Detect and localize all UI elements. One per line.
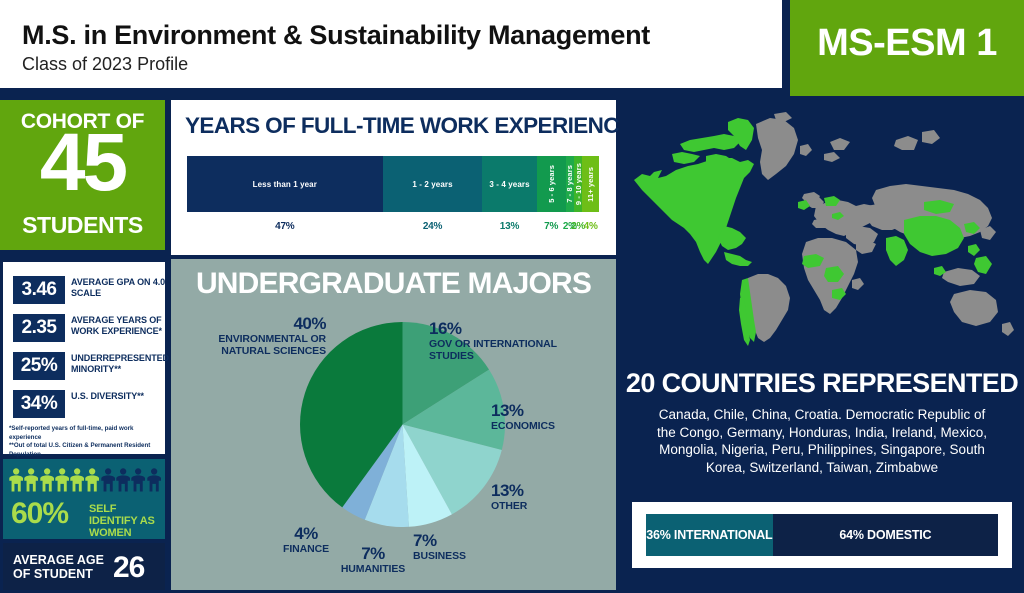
person-icon-filled <box>9 465 23 495</box>
bar-percent-label: 24% <box>383 218 483 234</box>
undergraduate-majors-panel: UNDERGRADUATE MAJORS 16%GOV OR INTERNATI… <box>171 259 616 590</box>
work-experience-percent-labels: 47%24%13%7%2%2%4% <box>187 218 599 234</box>
stat-value: 25% <box>13 352 65 380</box>
bar-segment-label: Less than 1 year <box>253 180 317 189</box>
map-region-svalbard-a <box>830 138 850 150</box>
stat-label: UNDERREPRESENTED MINORITY** <box>71 353 176 374</box>
map-region-canada-arctic <box>680 134 740 152</box>
gender-panel: 60% SELF IDENTIFY AS WOMEN <box>3 459 165 539</box>
bar-segment: 11+ years <box>582 156 599 212</box>
map-region-north-america <box>634 158 754 264</box>
bar-percent-label: 47% <box>187 218 383 234</box>
person-icon-empty <box>131 465 145 495</box>
gender-label: SELF IDENTIFY AS WOMEN <box>89 503 165 539</box>
stat-value: 34% <box>13 390 65 418</box>
cohort-panel: COHORT OF 45 STUDENTS <box>0 100 165 250</box>
bar-segment: 7 - 8 years <box>566 156 574 212</box>
pie-label-percent: 40% <box>181 314 326 334</box>
map-region-australia <box>950 290 998 326</box>
bar-percent-label: 2% <box>574 218 582 234</box>
footnote-2: **Out of total U.S. Citizen & Permanent … <box>9 442 167 459</box>
person-icon-filled <box>70 465 84 495</box>
international-split-panel: 36% INTERNATIONAL64% DOMESTIC <box>632 502 1012 568</box>
undergraduate-majors-title: UNDERGRADUATE MAJORS <box>171 267 616 301</box>
gender-percent: 60% <box>11 497 68 531</box>
work-experience-title: YEARS OF FULL-TIME WORK EXPERIENCE <box>185 113 633 139</box>
footnote-1: *Self-reported years of full-time, paid … <box>9 425 167 442</box>
person-icon-filled <box>40 465 54 495</box>
map-region-svalbard-b <box>824 152 840 162</box>
right-column: 20 COUNTRIES REPRESENTED Canada, Chile, … <box>620 96 1024 593</box>
person-icon-empty <box>116 465 130 495</box>
bar-segment-label: 9 - 10 years <box>574 163 582 205</box>
person-icon-empty <box>147 465 161 495</box>
bar-percent-label: 13% <box>482 218 536 234</box>
stat-label: U.S. DIVERSITY** <box>71 391 176 402</box>
pie-label-name: BUSINESS <box>413 551 503 563</box>
bar-segment: 3 - 4 years <box>482 156 536 212</box>
map-region-new-zealand <box>1002 322 1014 336</box>
bar-segment-label: 5 - 6 years <box>547 165 556 203</box>
countries-list: Canada, Chile, China, Croatia. Democrati… <box>648 406 996 476</box>
pie-label: 16%GOV OR INTERNATIONAL STUDIES <box>429 319 579 362</box>
bar-segment-label: 7 - 8 years <box>566 165 574 203</box>
stats-footnotes: *Self-reported years of full-time, paid … <box>9 425 167 459</box>
countries-title: 20 COUNTRIES REPRESENTED <box>620 368 1024 399</box>
page-title: M.S. in Environment & Sustainability Man… <box>22 20 650 51</box>
program-badge: MS-ESM 1 <box>790 0 1024 96</box>
work-experience-stacked-bar: Less than 1 year1 - 2 years3 - 4 years5 … <box>187 156 599 212</box>
map-region-arctic-ru-a <box>894 136 918 150</box>
bar-segment: 9 - 10 years <box>574 156 582 212</box>
map-region-indonesia <box>942 268 980 286</box>
pie-label: 4%FINANCE <box>266 524 346 556</box>
map-region-arctic-islands <box>672 152 700 164</box>
international-split-segment: 64% DOMESTIC <box>773 514 998 556</box>
header-title-block: M.S. in Environment & Sustainability Man… <box>0 0 782 88</box>
map-region-india <box>886 236 908 266</box>
pie-label-name: HUMANITIES <box>323 564 423 576</box>
pie-label: 13%OTHER <box>491 481 601 513</box>
average-age-label: AVERAGE AGE OF STUDENT <box>13 554 108 581</box>
bar-segment-label: 3 - 4 years <box>489 180 529 189</box>
bar-percent-label: 7% <box>537 218 566 234</box>
world-map <box>628 102 1020 358</box>
person-icon-filled <box>85 465 99 495</box>
bar-percent-label: 4% <box>582 218 599 234</box>
stat-label: AVERAGE GPA ON 4.0 SCALE <box>71 277 176 298</box>
pie-label-percent: 13% <box>491 481 601 501</box>
pie-label-name: ENVIRONMENTAL OR NATURAL SCIENCES <box>181 334 326 357</box>
person-icon-filled <box>24 465 38 495</box>
map-region-madagascar <box>852 278 864 290</box>
pie-label-percent: 16% <box>429 319 579 339</box>
work-experience-panel: YEARS OF FULL-TIME WORK EXPERIENCE Less … <box>171 100 616 255</box>
bar-segment: 5 - 6 years <box>537 156 566 212</box>
infographic-page: M.S. in Environment & Sustainability Man… <box>0 0 1024 593</box>
map-region-mexico <box>718 226 746 250</box>
program-badge-label: MS-ESM 1 <box>790 22 1024 65</box>
pie-label-name: ECONOMICS <box>491 421 611 433</box>
bar-segment: Less than 1 year <box>187 156 383 212</box>
map-region-philippines <box>974 256 992 274</box>
cohort-number: 45 <box>0 122 165 204</box>
stat-label: AVERAGE YEARS OF WORK EXPERIENCE* <box>71 315 176 336</box>
map-region-taiwan <box>968 244 980 256</box>
pie-label-percent: 4% <box>266 524 346 544</box>
person-icon-empty <box>101 465 115 495</box>
pie-label-name: FINANCE <box>266 544 346 556</box>
page-header: M.S. in Environment & Sustainability Man… <box>0 0 1024 96</box>
pie-label: 7%BUSINESS <box>413 531 503 563</box>
stat-value: 2.35 <box>13 314 65 342</box>
average-age-panel: AVERAGE AGE OF STUDENT 26 <box>3 543 165 590</box>
pie-label-percent: 7% <box>413 531 503 551</box>
cohort-bottom-label: STUDENTS <box>0 212 165 239</box>
map-region-greenland <box>756 118 798 180</box>
pie-label-name: GOV OR INTERNATIONAL STUDIES <box>429 339 579 362</box>
page-subtitle: Class of 2023 Profile <box>22 54 188 75</box>
map-region-central-america <box>724 252 752 266</box>
pie-label-percent: 13% <box>491 401 611 421</box>
people-icon-row <box>9 465 161 495</box>
bar-segment-label: 1 - 2 years <box>412 180 452 189</box>
bar-segment-label: 11+ years <box>586 167 595 202</box>
pie-label: 40%ENVIRONMENTAL OR NATURAL SCIENCES <box>181 314 326 357</box>
stat-value: 3.46 <box>13 276 65 304</box>
international-split-bar: 36% INTERNATIONAL64% DOMESTIC <box>646 514 998 556</box>
pie-label-name: OTHER <box>491 501 601 513</box>
map-region-iceland-n <box>800 144 812 156</box>
bar-segment: 1 - 2 years <box>383 156 483 212</box>
key-stats-panel: 3.46 AVERAGE GPA ON 4.0 SCALE 2.35 AVERA… <box>3 262 165 454</box>
average-age-value: 26 <box>113 551 144 585</box>
person-icon-filled <box>55 465 69 495</box>
map-region-arctic-ru-b <box>922 130 940 144</box>
pie-label: 13%ECONOMICS <box>491 401 611 433</box>
international-split-segment: 36% INTERNATIONAL <box>646 514 773 556</box>
